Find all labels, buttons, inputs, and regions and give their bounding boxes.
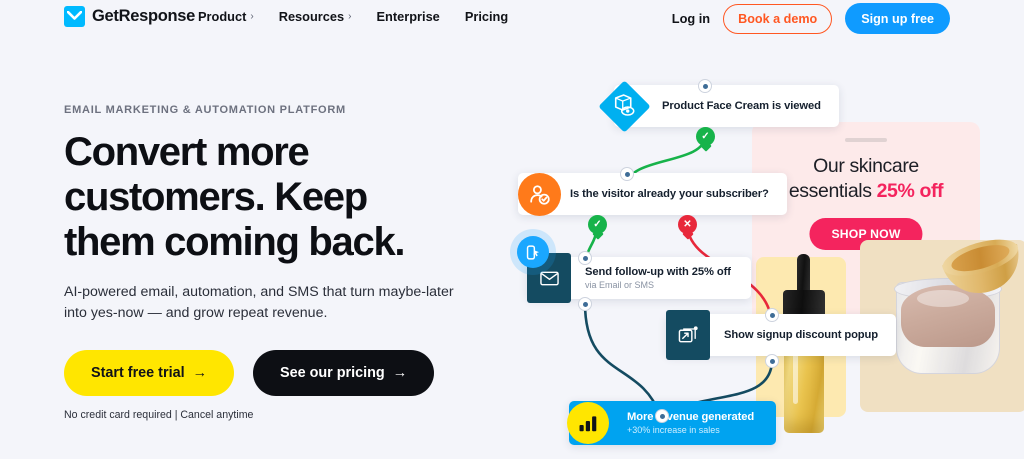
nav-item-product[interactable]: Product ›	[198, 9, 254, 24]
flow-node-title: Show signup discount popup	[724, 329, 878, 341]
flow-node-subtitle: +30% increase in sales	[627, 425, 754, 435]
cta-label: See our pricing	[280, 365, 385, 381]
hero-note: No credit card required | Cancel anytime	[64, 409, 484, 421]
nav-label: Product	[198, 9, 246, 24]
book-demo-button[interactable]: Book a demo	[723, 4, 832, 34]
hero-cta-row: Start free trial → See our pricing →	[64, 350, 484, 396]
flow-node-subtitle: via Email or SMS	[585, 280, 731, 290]
flow-node-title: Product Face Cream is viewed	[662, 100, 821, 112]
flow-node-send-followup[interactable]: Send follow-up with 25% off via Email or…	[527, 257, 751, 299]
subscriber-check-icon	[518, 173, 561, 216]
flow-node-signup-popup[interactable]: Show signup discount popup	[666, 314, 896, 356]
flow-node-title: Is the visitor already your subscriber?	[570, 188, 769, 200]
login-link[interactable]: Log in	[672, 11, 710, 26]
bar-chart-icon	[567, 402, 609, 444]
flow-node-condition[interactable]: Is the visitor already your subscriber?	[518, 173, 787, 215]
see-our-pricing-button[interactable]: See our pricing →	[253, 350, 434, 396]
hero-eyebrow: EMAIL MARKETING & AUTOMATION PLATFORM	[64, 104, 484, 116]
flow-node-title: More revenue generated	[627, 411, 754, 423]
flow-node-revenue[interactable]: More revenue generated +30% increase in …	[569, 401, 776, 445]
port-popup-top[interactable]	[765, 308, 779, 322]
site-header: GetResponse Product › Resources › Enterp…	[0, 0, 1024, 42]
arrow-right-icon: →	[193, 365, 207, 381]
port-trigger-top[interactable]	[698, 79, 712, 93]
nav-label: Resources	[279, 9, 344, 24]
page-title: Convert more customers. Keep them coming…	[64, 130, 464, 264]
flow-node-title: Send follow-up with 25% off	[585, 266, 731, 278]
port-send-bottom[interactable]	[578, 297, 592, 311]
header-actions: Log in Book a demo Sign up free	[672, 3, 950, 34]
flow-node-trigger[interactable]: Product Face Cream is viewed	[614, 85, 839, 127]
nav-item-resources[interactable]: Resources ›	[279, 9, 352, 24]
port-condition-top[interactable]	[620, 167, 634, 181]
branch-yes-pin-condition[interactable]: ✓	[588, 215, 607, 234]
hero-illustration: Our skincare essentials 25% off SHOP NOW	[500, 60, 1024, 459]
nav-label: Enterprise	[377, 9, 440, 24]
port-send-top[interactable]	[578, 251, 592, 265]
nav-label: Pricing	[465, 9, 508, 24]
branch-yes-pin-trigger[interactable]: ✓	[696, 127, 715, 146]
popup-window-icon	[666, 310, 710, 360]
branch-no-pin-condition[interactable]: ✕	[678, 215, 697, 234]
arrow-right-icon: →	[393, 365, 407, 381]
brand-logo[interactable]: GetResponse	[64, 6, 195, 27]
chevron-right-icon: ›	[250, 12, 253, 22]
click-cursor-icon	[517, 236, 549, 268]
port-revenue-top[interactable]	[655, 409, 669, 423]
nav-item-enterprise[interactable]: Enterprise	[377, 9, 440, 24]
main-nav: Product › Resources › Enterprise Pricing	[198, 9, 508, 24]
landing-page: GetResponse Product › Resources › Enterp…	[0, 0, 1024, 459]
sign-up-free-button[interactable]: Sign up free	[845, 3, 950, 34]
chevron-right-icon: ›	[348, 12, 351, 22]
start-free-trial-button[interactable]: Start free trial →	[64, 350, 234, 396]
brand-name: GetResponse	[92, 7, 195, 26]
hero-content: EMAIL MARKETING & AUTOMATION PLATFORM Co…	[64, 104, 484, 421]
nav-item-pricing[interactable]: Pricing	[465, 9, 508, 24]
envelope-icon	[64, 6, 85, 27]
port-popup-bottom[interactable]	[765, 354, 779, 368]
hero-subcopy: AI-powered email, automation, and SMS th…	[64, 282, 464, 323]
cta-label: Start free trial	[91, 365, 185, 381]
